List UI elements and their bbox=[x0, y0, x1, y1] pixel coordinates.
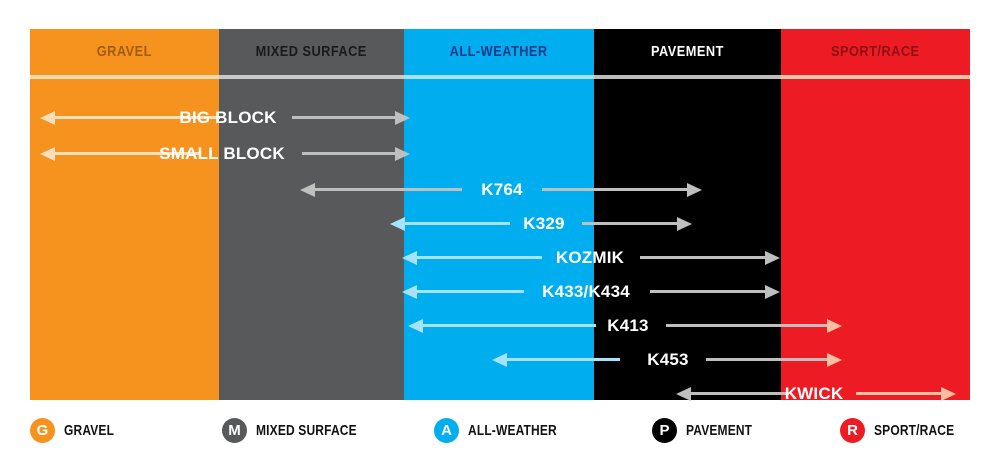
arrow-head-right bbox=[827, 319, 842, 333]
band-header-label: MIXED SURFACE bbox=[256, 44, 367, 60]
range-arrow-right bbox=[706, 343, 842, 376]
arrow-shaft bbox=[292, 116, 397, 119]
band-header-label: PAVEMENT bbox=[651, 44, 724, 60]
legend-badge-sport-race-icon: R bbox=[840, 418, 865, 443]
tread-row-k433-k434: K433/K434 bbox=[30, 275, 970, 308]
arrow-head-left bbox=[676, 387, 691, 401]
range-arrow-left bbox=[676, 377, 786, 410]
band-header-label: ALL-WEATHER bbox=[450, 44, 548, 60]
arrow-head-right bbox=[395, 147, 410, 161]
legend-label-sport-race: SPORT/RACE bbox=[874, 422, 954, 439]
arrow-shaft bbox=[505, 358, 620, 361]
tread-label-k329: K329 bbox=[514, 214, 573, 234]
legend-item-sport-race[interactable]: RSPORT/RACE bbox=[840, 408, 974, 452]
arrow-head-left bbox=[408, 319, 423, 333]
arrow-shaft bbox=[582, 222, 679, 225]
band-header-sport-race: SPORT/RACE bbox=[781, 29, 970, 75]
range-arrow-right bbox=[302, 137, 410, 170]
legend-label-mixed-surface: MIXED SURFACE bbox=[256, 422, 357, 439]
band-header-mixed-surface: MIXED SURFACE bbox=[219, 29, 404, 75]
arrow-shaft bbox=[689, 392, 786, 395]
arrow-shaft bbox=[706, 358, 829, 361]
tread-row-k453: K453 bbox=[30, 343, 970, 376]
arrow-shaft bbox=[313, 188, 462, 191]
arrow-shaft bbox=[302, 152, 397, 155]
arrow-head-left bbox=[390, 217, 405, 231]
arrow-shaft bbox=[666, 324, 829, 327]
tread-row-small-block: SMALL BLOCK bbox=[30, 137, 970, 170]
legend-item-gravel[interactable]: GGRAVEL bbox=[30, 408, 127, 452]
arrow-shaft bbox=[415, 256, 542, 259]
arrow-head-right bbox=[827, 353, 842, 367]
surface-legend: GGRAVELMMIXED SURFACEAALL-WEATHERPPAVEME… bbox=[30, 408, 970, 452]
range-arrow-right bbox=[640, 241, 780, 274]
tread-row-group: BIG BLOCKSMALL BLOCKK764K329KOZMIKK433/K… bbox=[30, 79, 970, 400]
arrow-head-right bbox=[765, 251, 780, 265]
band-header-gravel: GRAVEL bbox=[30, 29, 219, 75]
range-arrow-right bbox=[582, 207, 692, 240]
arrow-head-left bbox=[402, 285, 417, 299]
range-arrow-right bbox=[292, 101, 410, 134]
tread-label-k453: K453 bbox=[638, 350, 697, 370]
band-header-all-weather: ALL-WEATHER bbox=[404, 29, 594, 75]
tread-label-kwick: KWICK bbox=[776, 384, 853, 404]
range-arrow-right bbox=[650, 275, 780, 308]
tread-label-kozmik: KOZMIK bbox=[547, 248, 633, 268]
band-header-label: SPORT/RACE bbox=[831, 44, 920, 60]
arrow-head-left bbox=[40, 147, 55, 161]
arrow-shaft bbox=[403, 222, 510, 225]
range-arrow-left bbox=[492, 343, 620, 376]
legend-item-pavement[interactable]: PPAVEMENT bbox=[652, 408, 769, 452]
arrow-head-right bbox=[941, 387, 956, 401]
legend-badge-all-weather-icon: A bbox=[434, 418, 459, 443]
arrow-shaft bbox=[640, 256, 767, 259]
tread-row-kwick: KWICK bbox=[30, 377, 970, 410]
legend-badge-pavement-icon: P bbox=[652, 418, 677, 443]
range-arrow-left bbox=[408, 309, 596, 342]
tread-label-k764: K764 bbox=[472, 180, 531, 200]
tread-label-k433-k434: K433/K434 bbox=[533, 282, 639, 302]
tread-label-k413: K413 bbox=[598, 316, 657, 336]
tread-row-k764: K764 bbox=[30, 173, 970, 206]
range-arrow-right bbox=[856, 377, 956, 410]
legend-label-all-weather: ALL-WEATHER bbox=[468, 422, 557, 439]
arrow-shaft bbox=[650, 290, 767, 293]
legend-label-pavement: PAVEMENT bbox=[686, 422, 752, 439]
arrow-shaft bbox=[415, 290, 524, 293]
arrow-shaft bbox=[542, 188, 689, 191]
arrow-head-right bbox=[765, 285, 780, 299]
arrow-head-right bbox=[395, 111, 410, 125]
arrow-head-left bbox=[492, 353, 507, 367]
tread-row-big-block: BIG BLOCK bbox=[30, 101, 970, 134]
tread-row-k413: K413 bbox=[30, 309, 970, 342]
arrow-shaft bbox=[421, 324, 596, 327]
range-arrow-left bbox=[390, 207, 510, 240]
legend-item-all-weather[interactable]: AALL-WEATHER bbox=[434, 408, 579, 452]
arrow-head-left bbox=[40, 111, 55, 125]
arrow-head-left bbox=[402, 251, 417, 265]
band-header-label: GRAVEL bbox=[97, 44, 152, 60]
range-arrow-left bbox=[402, 241, 542, 274]
legend-label-gravel: GRAVEL bbox=[64, 422, 114, 439]
legend-badge-mixed-surface-icon: M bbox=[222, 418, 247, 443]
range-arrow-right bbox=[666, 309, 842, 342]
arrow-head-right bbox=[687, 183, 702, 197]
arrow-shaft bbox=[856, 392, 943, 395]
legend-item-mixed-surface[interactable]: MMIXED SURFACE bbox=[222, 408, 382, 452]
arrow-head-right bbox=[677, 217, 692, 231]
band-header-pavement: PAVEMENT bbox=[594, 29, 781, 75]
tread-label-small-block: SMALL BLOCK bbox=[150, 144, 294, 164]
arrow-head-left bbox=[300, 183, 315, 197]
range-arrow-right bbox=[542, 173, 702, 206]
tread-row-k329: K329 bbox=[30, 207, 970, 240]
legend-badge-gravel-icon: G bbox=[30, 418, 55, 443]
range-arrow-left bbox=[402, 275, 524, 308]
tread-label-big-block: BIG BLOCK bbox=[170, 108, 285, 128]
surface-suitability-chart: GRAVELMIXED SURFACEALL-WEATHERPAVEMENTSP… bbox=[30, 29, 970, 400]
tread-row-kozmik: KOZMIK bbox=[30, 241, 970, 274]
range-arrow-left bbox=[300, 173, 462, 206]
